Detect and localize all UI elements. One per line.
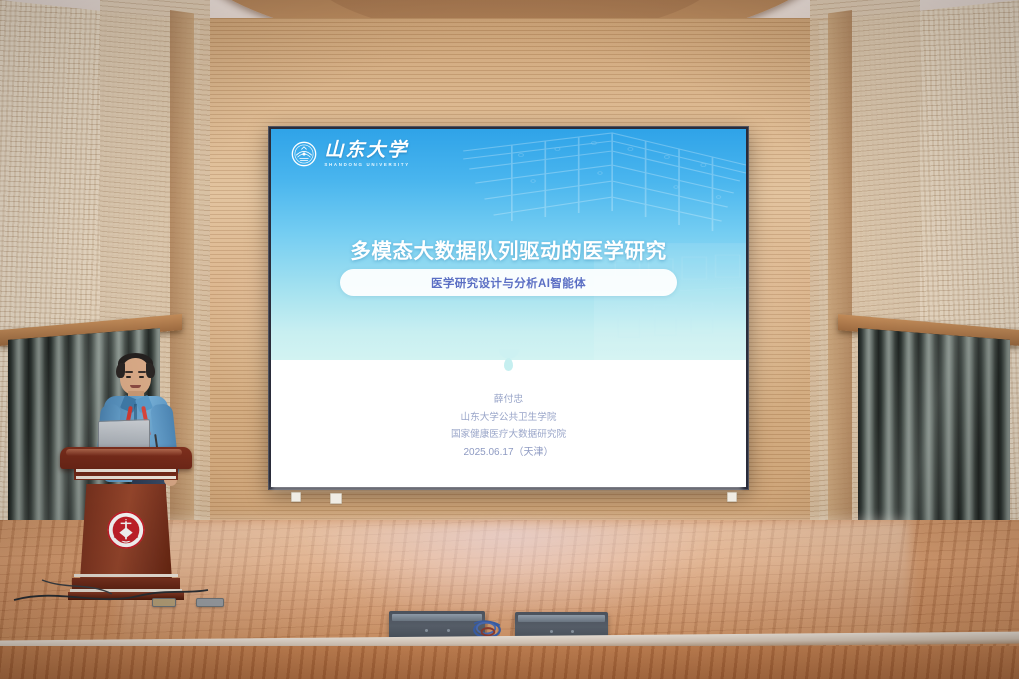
slide-affiliation-2: 国家健康医疗大数据研究院 — [271, 426, 746, 444]
eye-left — [126, 376, 131, 378]
slide-affiliation-1: 山东大学公共卫生学院 — [271, 409, 746, 427]
slide-droplet-accent — [504, 358, 513, 371]
right-corner-column — [828, 10, 852, 553]
slide-presenter-block: 薛付忠 山东大学公共卫生学院 国家健康医疗大数据研究院 2025.06.17（天… — [271, 391, 746, 461]
slide-date-location: 2025.06.17（天津） — [271, 444, 746, 462]
podium-desktop-highlight — [66, 449, 182, 456]
eye-right — [139, 376, 144, 378]
monitor-driver-right-1 — [550, 630, 553, 633]
wall-outlet-3 — [727, 492, 737, 502]
floor-cable-box-2 — [152, 598, 176, 607]
university-logo: 山东大学 SHANDONG UNIVERSITY — [291, 141, 409, 167]
hair-side-left — [116, 363, 125, 378]
slide-title: 多模态大数据队列驱动的医学研究 — [271, 234, 746, 264]
projection-screen-frame: 山东大学 SHANDONG UNIVERSITY 多模态大数据队列驱动的医学研究… — [268, 126, 749, 490]
logo-text-block: 山东大学 SHANDONG UNIVERSITY — [324, 141, 409, 167]
floor-cable-run — [8, 560, 238, 620]
shandong-university-seal-icon — [291, 141, 317, 167]
projection-screen: 山东大学 SHANDONG UNIVERSITY 多模态大数据队列驱动的医学研究… — [271, 129, 746, 487]
slide-subtitle: 医学研究设计与分析AI智能体 — [431, 275, 586, 291]
monitor-driver-right-2 — [571, 630, 574, 633]
stage-front-face — [0, 646, 1019, 679]
logo-university-cn: 山东大学 — [324, 141, 409, 160]
wall-outlet-2 — [330, 493, 342, 504]
podium-stripe-upper-2 — [76, 476, 176, 479]
monitor-driver-left-1 — [425, 629, 428, 632]
monitor-driver-left-2 — [447, 629, 450, 632]
slide-header-band: 山东大学 SHANDONG UNIVERSITY 多模态大数据队列驱动的医学研究… — [271, 129, 746, 360]
wall-outlet-1 — [291, 492, 301, 502]
hair-side-right — [146, 363, 155, 378]
floor-cable-box-1 — [196, 598, 224, 607]
eyebrow-right — [138, 371, 146, 373]
slide-subtitle-pill: 医学研究设计与分析AI智能体 — [340, 269, 677, 296]
podium-stripe-upper — [76, 469, 176, 472]
monitor-grille-right — [518, 615, 605, 622]
logo-university-en: SHANDONG UNIVERSITY — [324, 163, 409, 167]
auditorium-scene: 山东大学 SHANDONG UNIVERSITY 多模态大数据队列驱动的医学研究… — [0, 0, 1019, 679]
slide-presenter-name: 薛付忠 — [271, 391, 746, 409]
eyebrow-left — [125, 371, 133, 373]
podium-crest-emblem-icon — [106, 510, 146, 550]
mouth-smiling — [130, 385, 141, 388]
